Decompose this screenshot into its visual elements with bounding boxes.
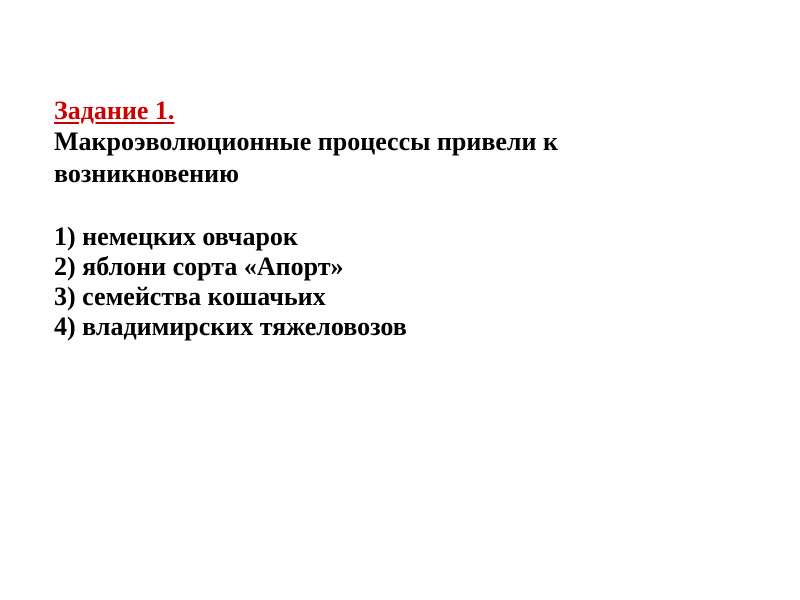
answer-options-list: 1) немецких овчарок 2) яблони сорта «Апо… [54, 222, 754, 342]
answer-option-4-marker: 4) [54, 312, 76, 341]
answer-option-3-marker: 3) [54, 282, 76, 311]
answer-option-2-marker: 2) [54, 252, 76, 281]
answer-option-1-marker: 1) [54, 222, 76, 251]
slide-canvas: Задание 1. Макроэволюционные процессы пр… [0, 0, 800, 600]
answer-option-4[interactable]: 4) владимирских тяжеловозов [54, 312, 754, 342]
question-line-2: возникновению [54, 158, 574, 190]
answer-option-2-label: яблони сорта «Апорт» [82, 252, 343, 281]
paragraph-spacer [54, 190, 754, 222]
slide-content-block: Задание 1. Макроэволюционные процессы пр… [54, 95, 754, 342]
task-heading-label: Задание 1. [54, 96, 174, 125]
answer-option-1-label: немецких овчарок [82, 222, 298, 251]
answer-option-3[interactable]: 3) семейства кошачьих [54, 282, 754, 312]
answer-option-1[interactable]: 1) немецких овчарок [54, 222, 754, 252]
answer-option-2[interactable]: 2) яблони сорта «Апорт» [54, 252, 754, 282]
question-text: Макроэволюционные процессы привели к воз… [54, 126, 574, 190]
task-heading: Задание 1. [54, 95, 754, 126]
answer-option-3-label: семейства кошачьих [82, 282, 325, 311]
answer-option-4-label: владимирских тяжеловозов [82, 312, 407, 341]
question-line-1: Макроэволюционные процессы привели к [54, 126, 574, 158]
